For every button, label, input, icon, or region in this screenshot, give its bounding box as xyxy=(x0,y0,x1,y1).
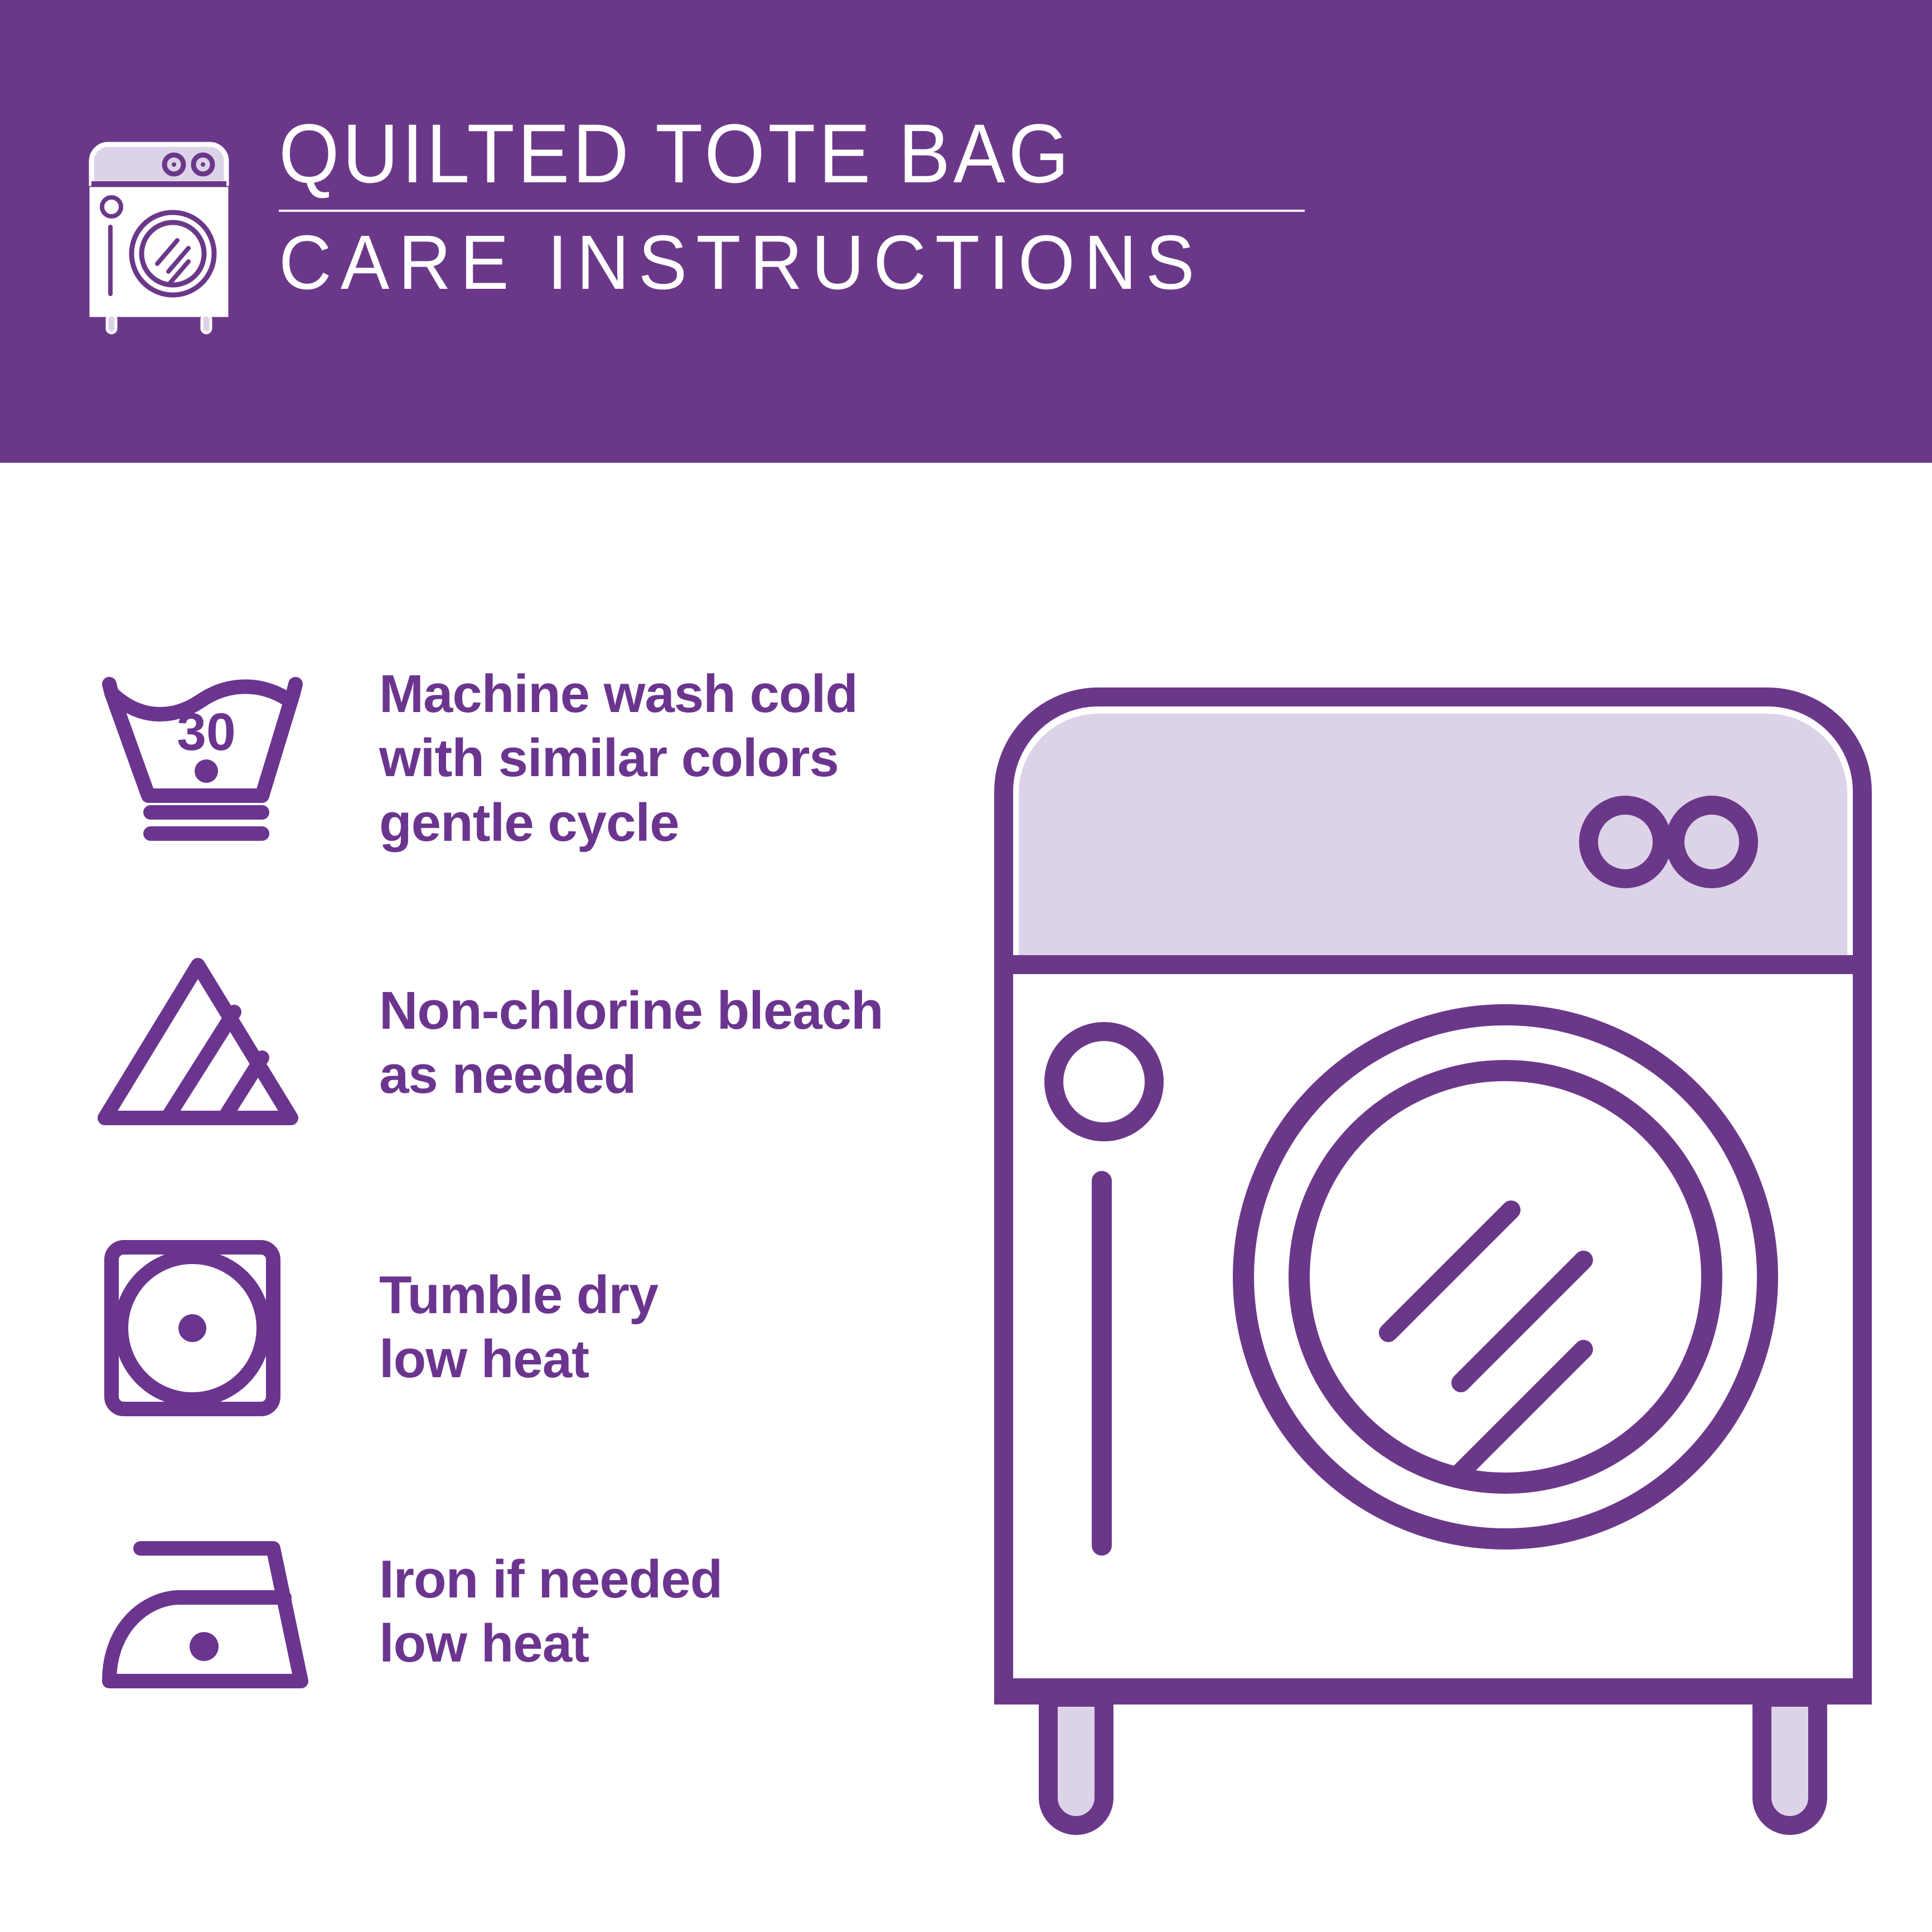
header-band: QUILTED TOTE BAG CARE INSTRUCTIONS xyxy=(0,0,1932,463)
washer-base-bar xyxy=(1004,1678,1862,1697)
wash-tub-30-gentle-icon: 30 xyxy=(95,664,318,853)
wash-temperature-label: 30 xyxy=(177,703,236,762)
care-instruction-text: Iron if needed low heat xyxy=(379,1547,722,1676)
care-instruction-row: Iron if needed low heat xyxy=(95,1517,931,1706)
knob-right xyxy=(1675,805,1749,879)
care-instruction-text: Non-chlorine bleach as needed xyxy=(379,979,883,1107)
washing-machine-icon xyxy=(84,137,234,337)
care-instruction-text: Machine wash cold with similar colors ge… xyxy=(379,662,858,855)
leg-right xyxy=(1762,1697,1818,1826)
leg-left xyxy=(1048,1697,1104,1826)
care-instruction-text: Tumble dry low heat xyxy=(379,1263,658,1391)
care-instruction-row: Tumble dry low heat xyxy=(95,1232,931,1422)
care-text-line: Non-chlorine bleach xyxy=(379,979,883,1043)
care-text-line: Machine wash cold xyxy=(379,662,858,726)
care-text-line: as needed xyxy=(379,1043,883,1107)
title-divider xyxy=(279,210,1305,212)
care-instruction-row: Non-chlorine bleach as needed xyxy=(95,948,931,1137)
tumble-dry-low-heat-icon xyxy=(95,1232,318,1422)
care-text-line: Tumble dry xyxy=(379,1263,658,1327)
non-chlorine-bleach-triangle-icon xyxy=(95,948,318,1137)
iron-low-heat-icon xyxy=(95,1517,318,1706)
care-instruction-row: 30 Machine wash cold with similar colors… xyxy=(95,664,931,853)
detergent-slot xyxy=(1092,1171,1112,1556)
care-text-line: with similar colors xyxy=(379,726,858,790)
page-subtitle: CARE INSTRUCTIONS xyxy=(279,224,1259,301)
care-instruction-list: 30 Machine wash cold with similar colors… xyxy=(95,664,931,1706)
header-content: QUILTED TOTE BAG CARE INSTRUCTIONS xyxy=(84,112,1310,346)
care-text-line: low heat xyxy=(379,1611,722,1676)
page-title: QUILTED TOTE BAG xyxy=(279,112,1238,195)
knob-left xyxy=(1589,805,1662,879)
care-text-line: gentle cycle xyxy=(379,791,858,855)
front-load-washing-machine-illustration xyxy=(965,636,1901,1840)
care-text-line: Iron if needed xyxy=(379,1547,722,1611)
header-title-group: QUILTED TOTE BAG CARE INSTRUCTIONS xyxy=(279,112,1310,301)
care-text-line: low heat xyxy=(379,1327,658,1391)
